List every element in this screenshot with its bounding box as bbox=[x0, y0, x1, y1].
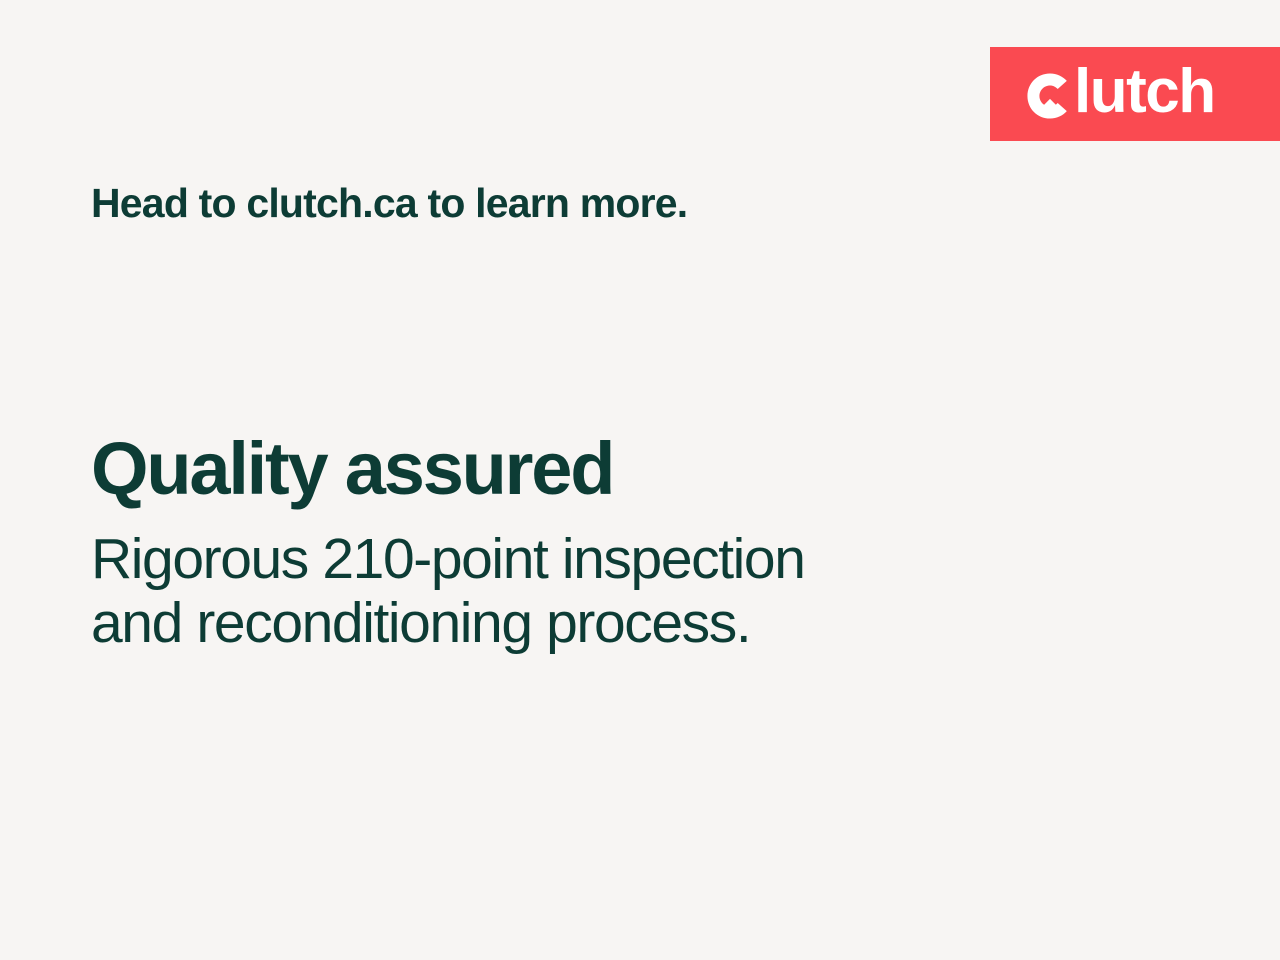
headline-block: Quality assured Rigorous 210-point inspe… bbox=[91, 432, 1091, 656]
clutch-wordmark: lutch bbox=[1074, 61, 1215, 123]
page-title: Quality assured bbox=[91, 432, 1091, 506]
logo-lockup: lutch bbox=[1026, 66, 1215, 122]
slide-canvas: lutch Head to clutch.ca to learn more. Q… bbox=[0, 0, 1280, 960]
clutch-c-mark-icon bbox=[1026, 72, 1074, 120]
subhead-line-2: and reconditioning process. bbox=[91, 592, 1091, 656]
clutch-logo-banner[interactable]: lutch bbox=[990, 47, 1280, 141]
subhead-paragraph: Rigorous 210-point inspection and recond… bbox=[91, 528, 1091, 656]
subhead-line-1: Rigorous 210-point inspection bbox=[91, 528, 1091, 592]
eyebrow-text: Head to clutch.ca to learn more. bbox=[91, 180, 687, 227]
